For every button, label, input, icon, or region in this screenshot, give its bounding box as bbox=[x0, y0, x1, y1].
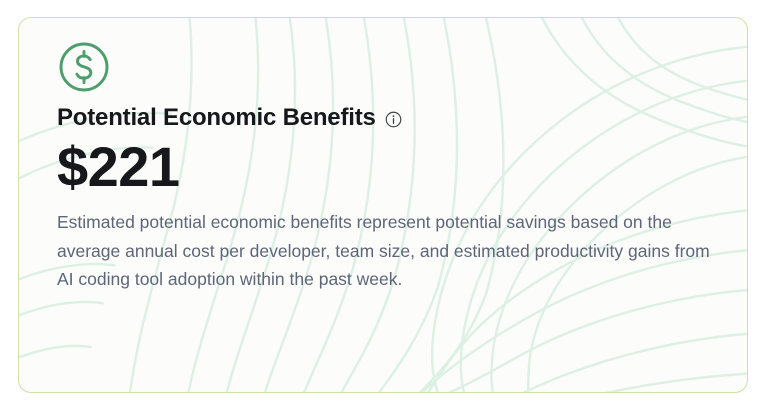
metric-value: $221 bbox=[57, 136, 719, 199]
metric-description: Estimated potential economic benefits re… bbox=[57, 208, 712, 294]
card-title-row: Potential Economic Benefits bbox=[57, 104, 719, 132]
card-title: Potential Economic Benefits bbox=[57, 104, 376, 132]
card-content: Potential Economic Benefits $221 Estimat… bbox=[19, 18, 747, 294]
page-root: Potential Economic Benefits $221 Estimat… bbox=[0, 0, 766, 410]
dollar-circle-icon bbox=[57, 40, 111, 94]
potential-economic-benefits-card: Potential Economic Benefits $221 Estimat… bbox=[18, 17, 748, 393]
info-icon[interactable] bbox=[385, 111, 402, 128]
